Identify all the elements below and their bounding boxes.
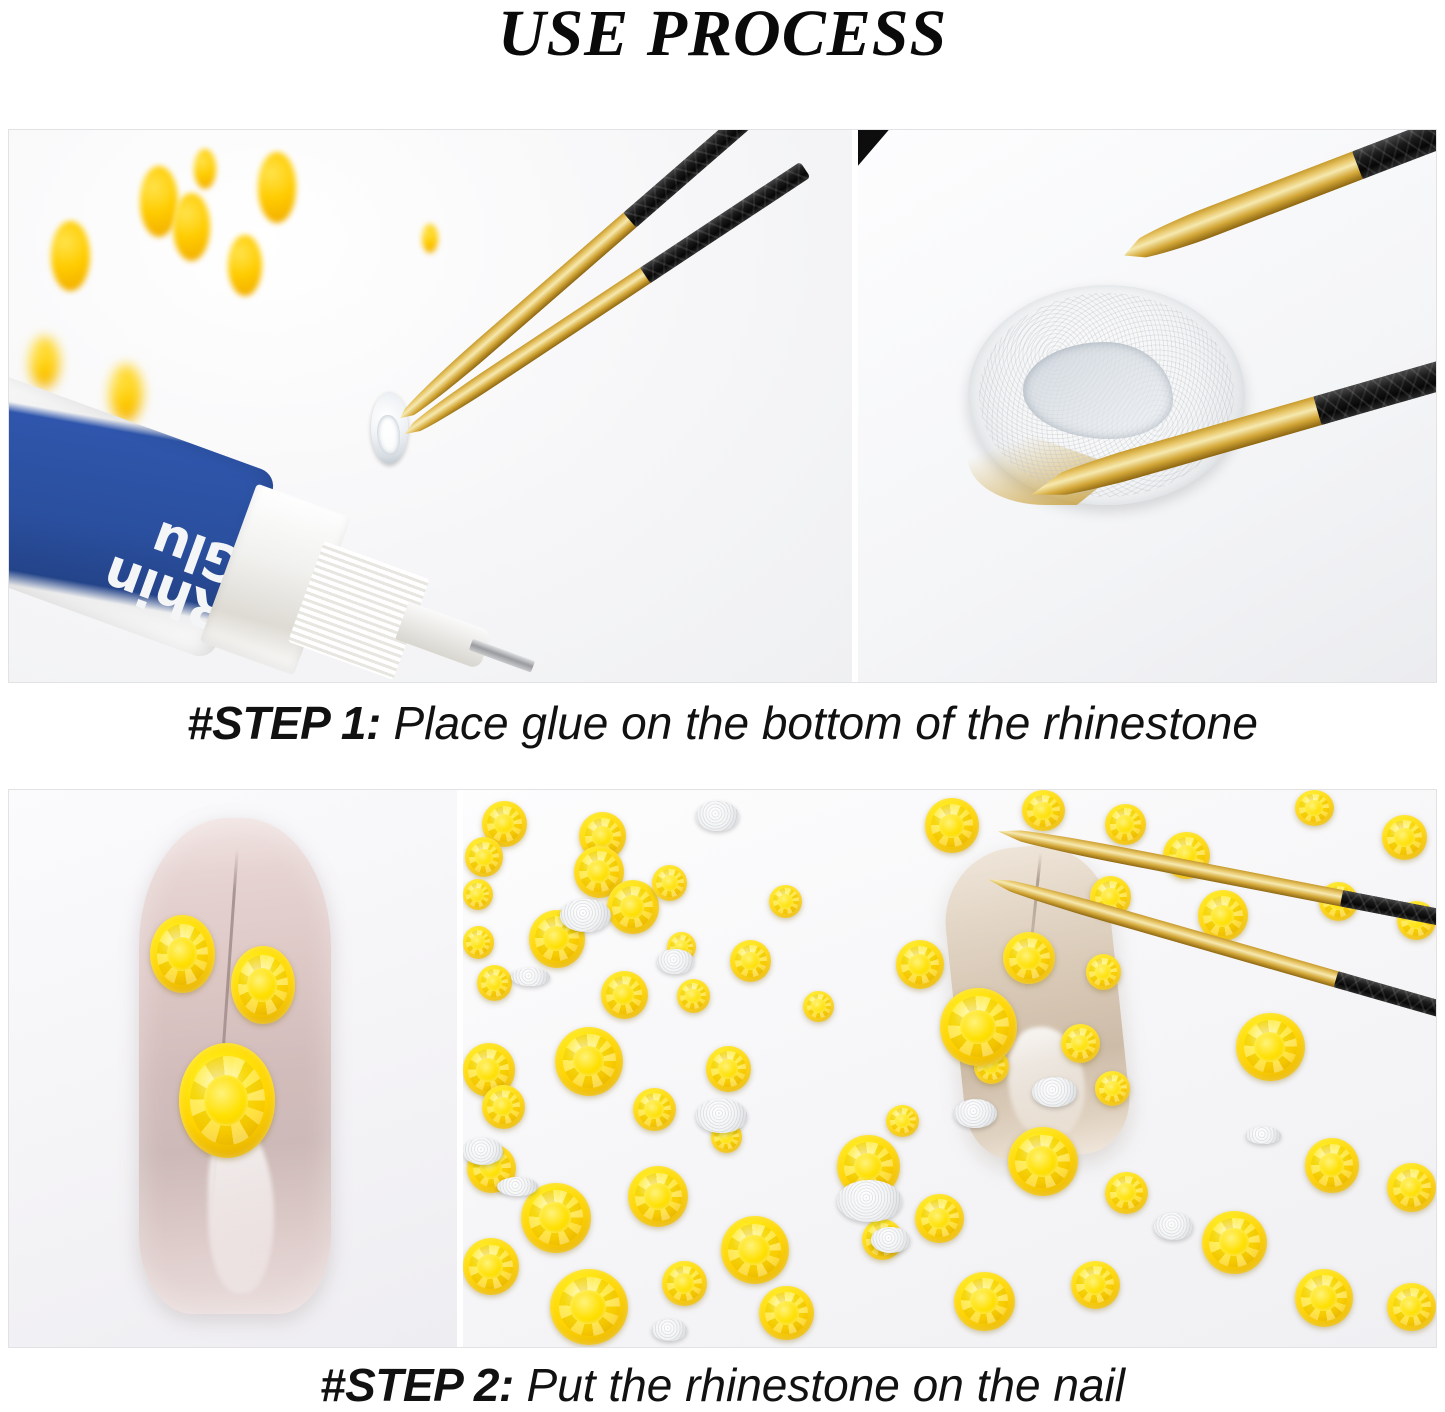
loose-rhinestone — [550, 1269, 628, 1345]
loose-rhinestone — [601, 971, 648, 1019]
loose-rhinestone-back — [954, 1099, 997, 1128]
loose-rhinestone — [915, 1194, 964, 1243]
rhinestone-being-placed — [940, 988, 1018, 1066]
loose-rhinestone — [633, 1088, 676, 1131]
loose-rhinestone — [925, 798, 980, 853]
loose-rhinestone — [1095, 1071, 1130, 1106]
loose-rhinestone — [555, 1027, 623, 1096]
loose-rhinestone — [954, 1272, 1014, 1331]
loose-rhinestone-back — [871, 1227, 910, 1253]
loose-rhinestone — [1105, 804, 1146, 845]
loose-rhinestone — [463, 879, 493, 910]
loose-rhinestone — [463, 926, 494, 958]
loose-rhinestone — [1061, 1024, 1100, 1063]
loose-rhinestone — [1071, 1261, 1120, 1309]
finished-nail-photo — [9, 790, 457, 1347]
step1-caption: #STEP 1: Place glue on the bottom of the… — [0, 696, 1445, 750]
step1-tag: #STEP 1: — [187, 697, 381, 749]
loose-rhinestone-back — [560, 899, 611, 932]
loose-rhinestone — [1236, 1013, 1304, 1081]
loose-rhinestone-back — [1246, 1127, 1281, 1144]
page-title: USE PROCESS — [0, 0, 1445, 72]
loose-rhinestone — [1295, 790, 1334, 826]
loose-rhinestone — [886, 1105, 919, 1137]
loose-rhinestone — [1008, 1127, 1078, 1196]
scattered-rhinestones-photo — [457, 790, 1436, 1347]
loose-rhinestone — [730, 940, 771, 981]
step1-text: Place glue on the bottom of the rhinesto… — [381, 697, 1258, 749]
step2-photo-row — [8, 789, 1437, 1348]
blurred-rhinestone — [422, 224, 438, 253]
loose-rhinestone — [721, 1216, 789, 1284]
loose-rhinestone — [1295, 1269, 1353, 1327]
loose-rhinestone — [607, 880, 660, 933]
step2-tag: #STEP 2: — [320, 1359, 514, 1411]
step1-photo-row: RhinGlu — [8, 129, 1437, 683]
loose-rhinestone — [1105, 1172, 1148, 1214]
loose-rhinestone — [1387, 1163, 1436, 1212]
loose-rhinestone — [662, 1261, 707, 1307]
step2-caption: #STEP 2: Put the rhinestone on the nail — [0, 1358, 1445, 1412]
loose-rhinestone-back — [497, 1177, 538, 1196]
blurred-rhinestone — [258, 152, 297, 223]
glue-application-photo: RhinGlu — [9, 130, 852, 682]
loose-rhinestone-back — [837, 1180, 901, 1222]
loose-rhinestone — [677, 979, 710, 1012]
nail-rhinestone — [179, 1043, 275, 1157]
loose-rhinestone — [1387, 1283, 1436, 1331]
loose-rhinestone — [1382, 815, 1427, 860]
blurred-rhinestone — [228, 235, 262, 296]
loose-rhinestone — [803, 991, 834, 1022]
nail-rhinestone — [231, 946, 296, 1024]
loose-rhinestone-back — [696, 801, 739, 831]
loose-rhinestone — [482, 1085, 525, 1128]
loose-rhinestone — [706, 1046, 751, 1092]
step2-text: Put the rhinestone on the nail — [514, 1359, 1125, 1411]
loose-rhinestone-back — [463, 1138, 504, 1165]
tweezer-holding-stone-photo — [852, 130, 1436, 682]
loose-rhinestone-back — [1154, 1213, 1193, 1240]
loose-rhinestone — [1086, 954, 1121, 990]
loose-rhinestone-back — [1032, 1077, 1077, 1107]
blurred-rhinestone — [51, 221, 90, 291]
loose-rhinestone — [1202, 1211, 1266, 1274]
loose-rhinestone — [463, 1238, 519, 1295]
loose-rhinestone — [652, 865, 687, 901]
loose-rhinestone — [1305, 1138, 1360, 1193]
nail-rhinestone — [150, 915, 215, 993]
blurred-rhinestone — [173, 193, 210, 260]
loose-rhinestone — [759, 1286, 814, 1341]
loose-rhinestone — [1022, 790, 1065, 831]
loose-rhinestone-back — [696, 1099, 747, 1132]
